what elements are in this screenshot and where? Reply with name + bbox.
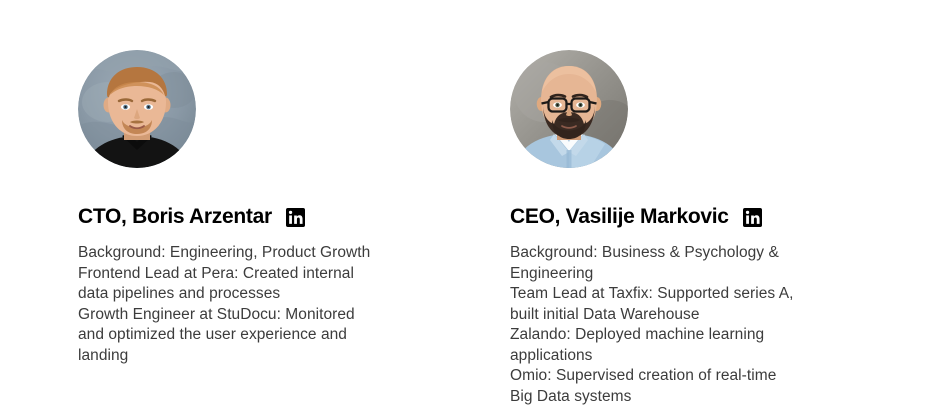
team-profiles-section: CTO, Boris Arzentar Background: Engineer… xyxy=(0,0,948,412)
bio-line: Team Lead at Taxfix: Supported series A, xyxy=(510,284,860,305)
bio-line: Growth Engineer at StuDocu: Monitored xyxy=(78,305,423,326)
bio-line: and optimized the user experience and xyxy=(78,325,423,346)
avatar-vasilije-markovic xyxy=(510,50,628,168)
bio-line: Frontend Lead at Pera: Created internal xyxy=(78,264,423,285)
profile-bio-ceo: Background: Business & Psychology & Engi… xyxy=(510,243,860,407)
profile-bio-cto: Background: Engineering, Product Growth … xyxy=(78,243,423,366)
bio-line: Omio: Supervised creation of real-time xyxy=(510,366,860,387)
bio-line: data pipelines and processes xyxy=(78,284,423,305)
profile-name-row: CEO, Vasilije Markovic xyxy=(510,204,870,230)
bio-line: Background: Business & Psychology & xyxy=(510,243,860,264)
bio-line: Background: Engineering, Product Growth xyxy=(78,243,423,264)
bio-line: Engineering xyxy=(510,264,860,285)
bio-line: applications xyxy=(510,346,860,367)
profile-card-cto: CTO, Boris Arzentar Background: Engineer… xyxy=(0,50,432,412)
profile-name-row: CTO, Boris Arzentar xyxy=(78,204,432,230)
linkedin-icon[interactable] xyxy=(286,208,305,227)
profile-card-ceo: CEO, Vasilije Markovic Background: Busin… xyxy=(432,50,870,412)
avatar-boris-arzentar xyxy=(78,50,196,168)
bio-line: landing xyxy=(78,346,423,367)
bio-line: Zalando: Deployed machine learning xyxy=(510,325,860,346)
person-name-cto: CTO, Boris Arzentar xyxy=(78,204,272,230)
bio-line: Big Data systems xyxy=(510,387,860,408)
linkedin-icon[interactable] xyxy=(743,208,762,227)
person-name-ceo: CEO, Vasilije Markovic xyxy=(510,204,729,230)
bio-line: built initial Data Warehouse xyxy=(510,305,860,326)
